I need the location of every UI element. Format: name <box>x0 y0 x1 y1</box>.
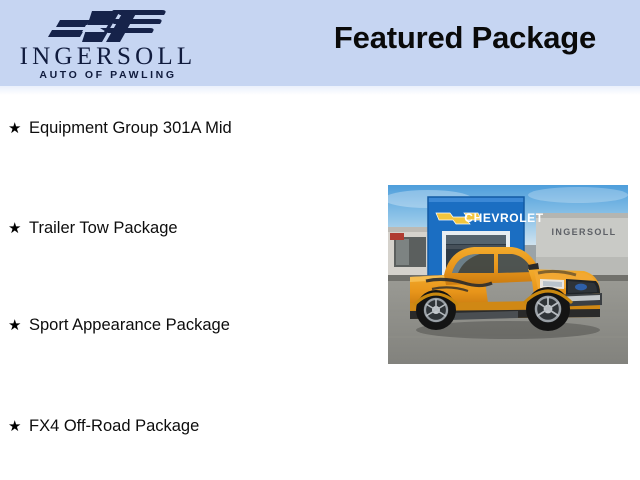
list-item: ★ Sport Appearance Package <box>8 317 230 334</box>
star-bullet-icon: ★ <box>8 121 29 136</box>
dealer-sign-text: CHEVROLET <box>464 211 543 225</box>
page-title: Featured Package <box>300 21 630 55</box>
dealer-logo-subwordmark: AUTO OF PAWLING <box>8 70 208 81</box>
dealer-logo-wordmark: INGERSOLL <box>8 44 208 69</box>
star-bullet-icon: ★ <box>8 318 29 333</box>
feature-label: Equipment Group 301A Mid <box>29 120 232 137</box>
list-item: ★ FX4 Off-Road Package <box>8 418 199 435</box>
star-bullet-icon: ★ <box>8 419 29 434</box>
dealer-logo[interactable]: INGERSOLL AUTO OF PAWLING <box>8 4 208 84</box>
header-fade-divider <box>0 86 640 95</box>
star-bullet-icon: ★ <box>8 221 29 236</box>
feature-label: FX4 Off-Road Package <box>29 418 199 435</box>
vehicle-photo[interactable]: INGERSOLL CHEVROLET <box>388 185 628 364</box>
feature-label: Trailer Tow Package <box>29 220 178 237</box>
list-item: ★ Equipment Group 301A Mid <box>8 120 232 137</box>
feature-label: Sport Appearance Package <box>29 317 230 334</box>
list-item: ★ Trailer Tow Package <box>8 220 178 237</box>
building-sign-text: INGERSOLL <box>551 227 616 237</box>
ingersoll-wing-emblem-icon <box>46 6 170 46</box>
